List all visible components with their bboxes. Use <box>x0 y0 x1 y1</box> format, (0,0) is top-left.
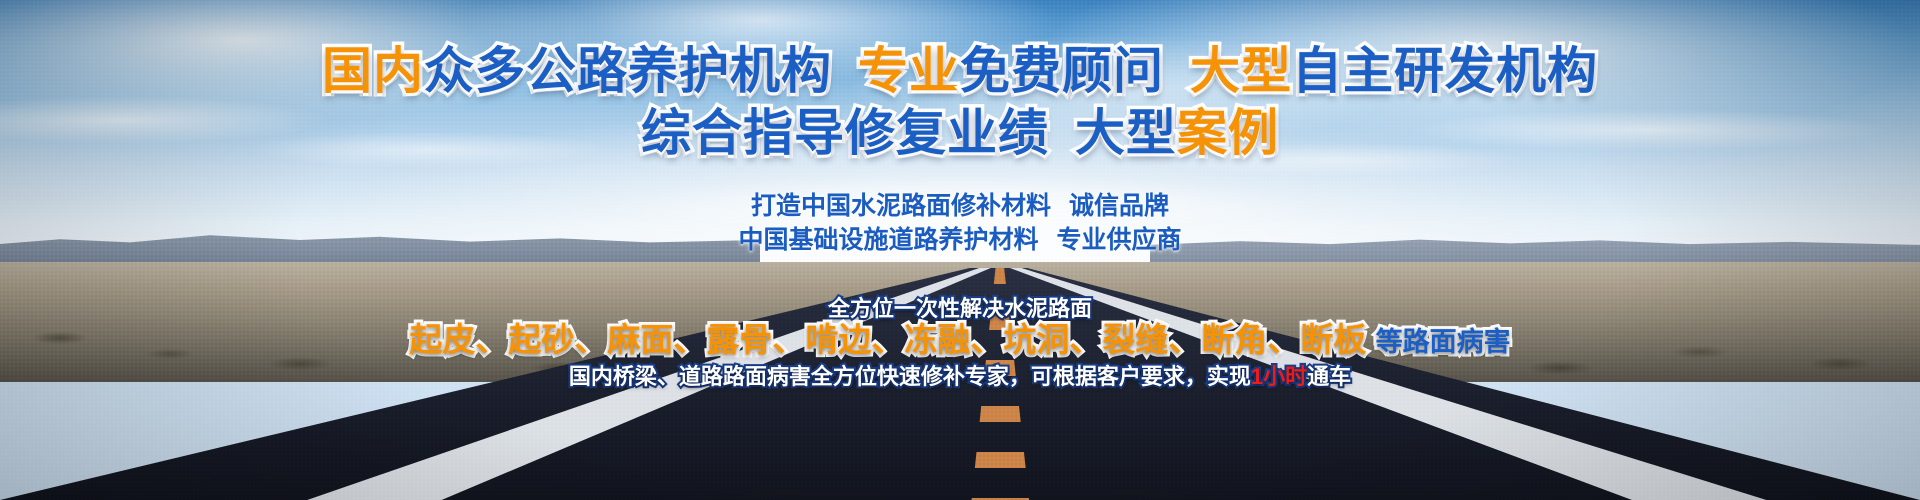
defect-list: 起皮、起砂、麻面、露骨、啃边、冻融、坑洞、裂缝、断角、断板 等路面病害 <box>0 318 1920 364</box>
headline-seg-zhuanye: 专业 <box>858 43 960 99</box>
headline-seg-daxing: 大型 <box>1190 43 1292 99</box>
promo-banner: 国内众多公路养护机构专业免费顾问大型自主研发机构 综合指导修复业绩大型案例 打造… <box>0 0 1920 500</box>
subheadline-line-1: 打造中国水泥路面修补材料诚信品牌 <box>0 190 1920 222</box>
headline-seg-zhongduo: 众多公路养护机构 <box>424 43 832 99</box>
headline-seg-zizhu: 自主研发机构 <box>1292 43 1598 99</box>
headline-line-2: 综合指导修复业绩大型案例 <box>0 104 1920 162</box>
subheadline-line-2: 中国基础设施道路养护材料专业供应商 <box>0 224 1920 256</box>
headline-seg-anli: 案例 <box>1177 105 1279 161</box>
headline-seg-zonghe: 综合指导修复业绩 <box>641 105 1049 161</box>
tagline-after: 通车 <box>1307 364 1351 389</box>
tagline-before: 国内桥梁、道路路面病害全方位快速修补专家，可根据客户要求，实现 <box>569 364 1251 389</box>
subheadline-1b: 诚信品牌 <box>1069 192 1169 220</box>
headline-seg-guonei: 国内 <box>322 43 424 99</box>
tagline-highlight: 1小时 <box>1251 364 1307 389</box>
defect-list-items: 起皮、起砂、麻面、露骨、啃边、冻融、坑洞、裂缝、断角、断板 <box>409 321 1375 358</box>
subheadline-1a: 打造中国水泥路面修补材料 <box>751 192 1051 220</box>
headline-line-1: 国内众多公路养护机构专业免费顾问大型自主研发机构 <box>0 42 1920 100</box>
tagline: 国内桥梁、道路路面病害全方位快速修补专家，可根据客户要求，实现1小时通车 <box>0 362 1920 392</box>
headline-seg-mianfei: 免费顾问 <box>960 43 1164 99</box>
defect-list-suffix: 等路面病害 <box>1376 327 1511 357</box>
subheadline-2b: 专业供应商 <box>1057 226 1182 254</box>
subheadline-2a: 中国基础设施道路养护材料 <box>738 226 1038 254</box>
banner-content: 国内众多公路养护机构专业免费顾问大型自主研发机构 综合指导修复业绩大型案例 打造… <box>0 0 1920 500</box>
headline-seg-daxing-2: 大型 <box>1075 105 1177 161</box>
